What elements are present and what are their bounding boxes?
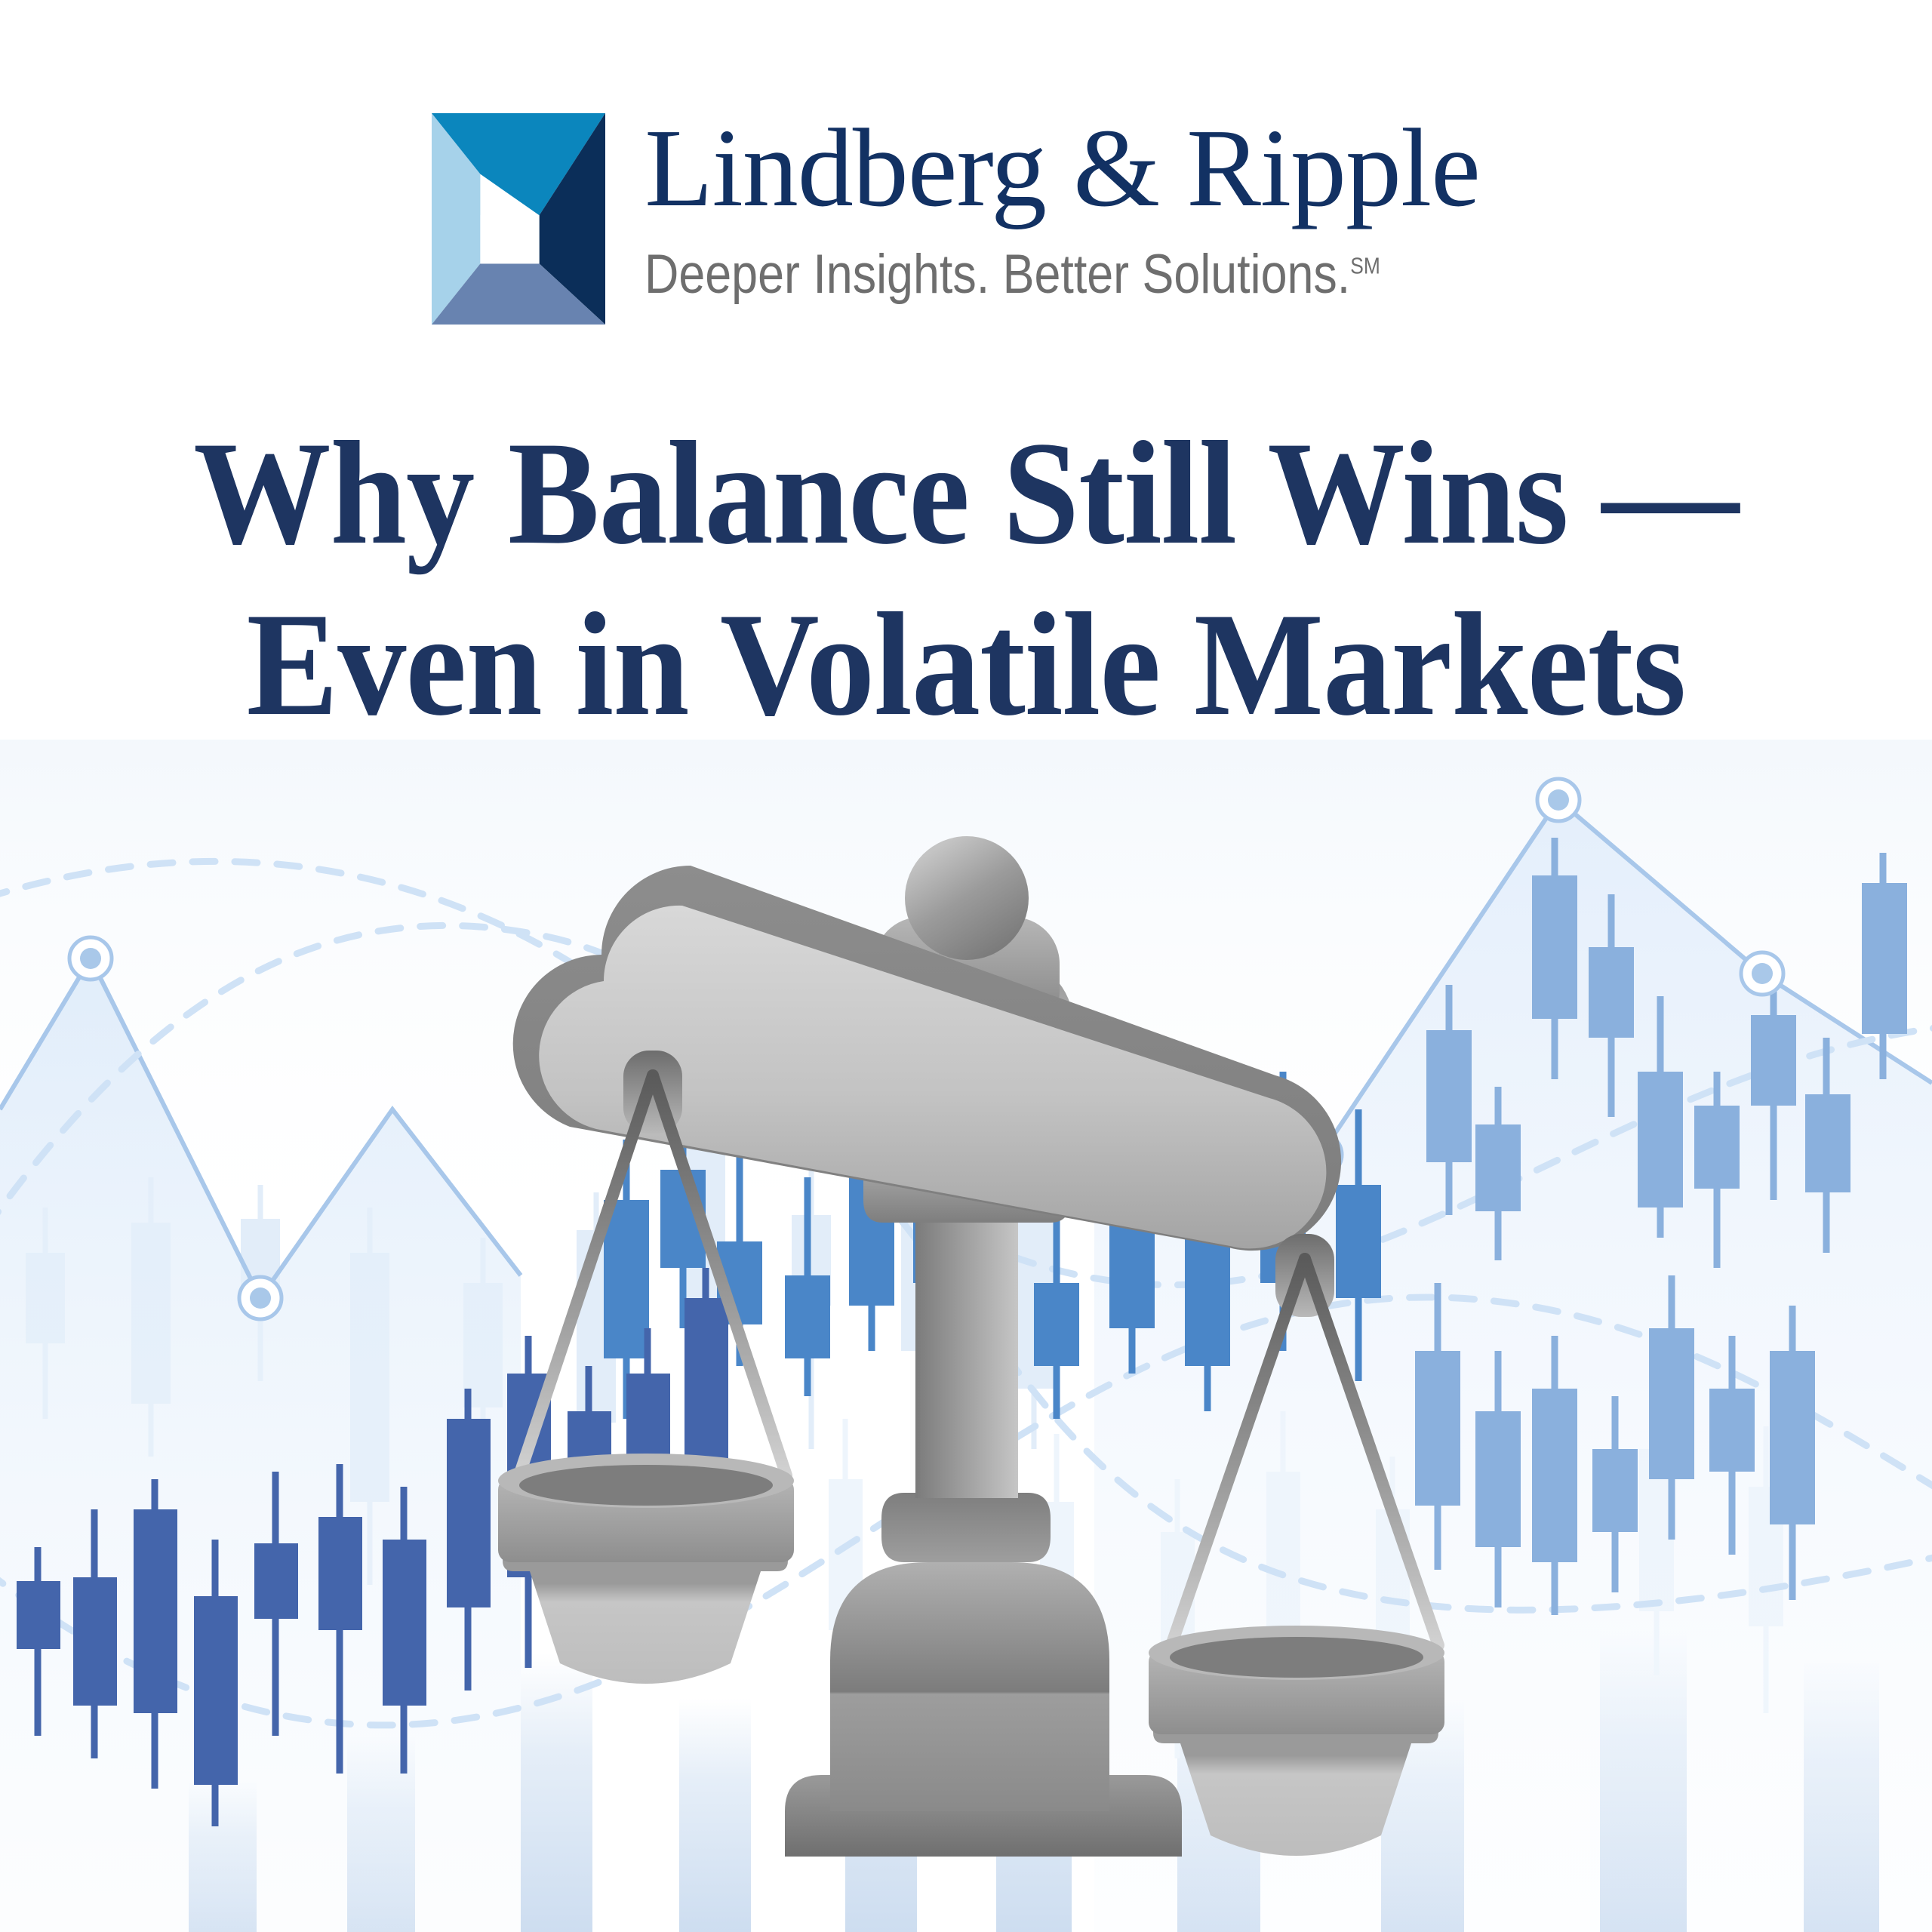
brand-name: Lindberg & Ripple (645, 116, 1500, 221)
headline-line-1: Why Balance Still Wins — (68, 408, 1865, 579)
lr-square-perspective-logo-icon (432, 113, 605, 325)
scale-top-ball (905, 836, 1029, 960)
headline-line-2: Even in Volatile Markets (68, 579, 1865, 750)
scale-column (915, 1181, 1018, 1498)
brand-tagline: Deeper Insights. Better Solutions.SM (645, 247, 1380, 302)
brand-text-block: Lindberg & Ripple Deeper Insights. Bette… (645, 113, 1500, 302)
tagline-text: Deeper Insights. Better Solutions. (645, 244, 1350, 305)
service-mark: SM (1351, 254, 1381, 279)
scale-right-pan (1149, 1626, 1444, 1856)
scale-base-neck (881, 1493, 1051, 1562)
brand-lockup: Lindberg & Ripple Deeper Insights. Bette… (432, 113, 1500, 325)
poster-header: Lindberg & Ripple Deeper Insights. Bette… (0, 0, 1932, 325)
page-title: Why Balance Still Wins — Even in Volatil… (0, 408, 1932, 751)
scale-left-pan (498, 1454, 794, 1684)
scale-base (830, 1562, 1109, 1811)
poster-canvas: Lindberg & Ripple Deeper Insights. Bette… (0, 0, 1932, 1932)
